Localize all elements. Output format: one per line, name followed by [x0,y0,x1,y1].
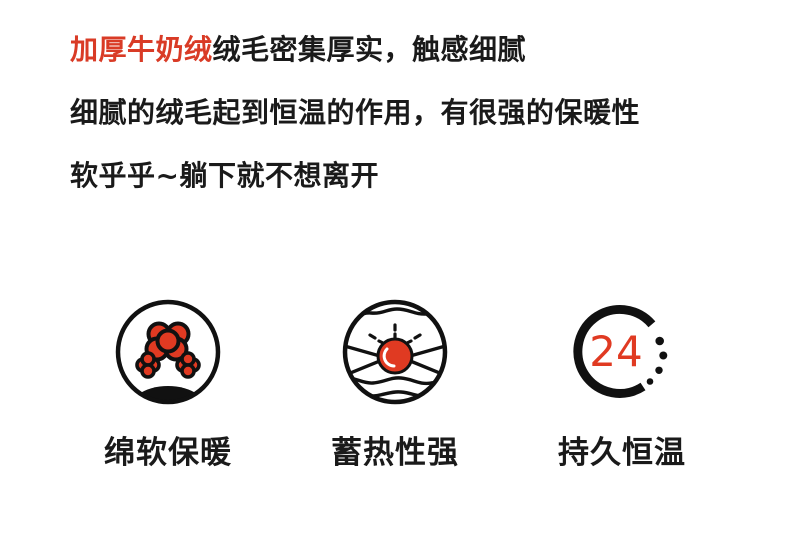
feature-label-24h: 持久恒温 [558,438,686,469]
copy-line-2: 细腻的绒毛起到恒温的作用，有很强的保暖性 [70,99,730,127]
feature-item-heat: 蓄热性强 [339,296,451,469]
feature-item-soft-warm: 绵软保暖 [112,296,224,469]
copy-line-3: 软乎乎~躺下就不想离开 [70,162,730,190]
infographic-page: 加厚牛奶绒绒毛密集厚实，触感细腻 细腻的绒毛起到恒温的作用，有很强的保暖性 软乎… [0,0,790,539]
clock-24h-arc-icon: 24 [566,296,678,408]
badge-number-24: 24 [589,327,642,376]
feature-item-24h: 24 持久恒温 [566,296,678,469]
sun-heat-circle-icon [339,296,451,408]
feature-row: 绵软保暖 [0,296,790,469]
cloud-fluff-circle-icon [112,296,224,408]
copy-line-1-highlight: 加厚牛奶绒 [70,33,213,66]
headline-copy-block: 加厚牛奶绒绒毛密集厚实，触感细腻 细腻的绒毛起到恒温的作用，有很强的保暖性 软乎… [70,36,730,190]
feature-label-soft-warm: 绵软保暖 [104,438,232,469]
copy-line-1: 加厚牛奶绒绒毛密集厚实，触感细腻 [70,36,730,64]
copy-line-1-rest: 绒毛密集厚实，触感细腻 [213,33,527,66]
feature-label-heat: 蓄热性强 [331,438,459,469]
